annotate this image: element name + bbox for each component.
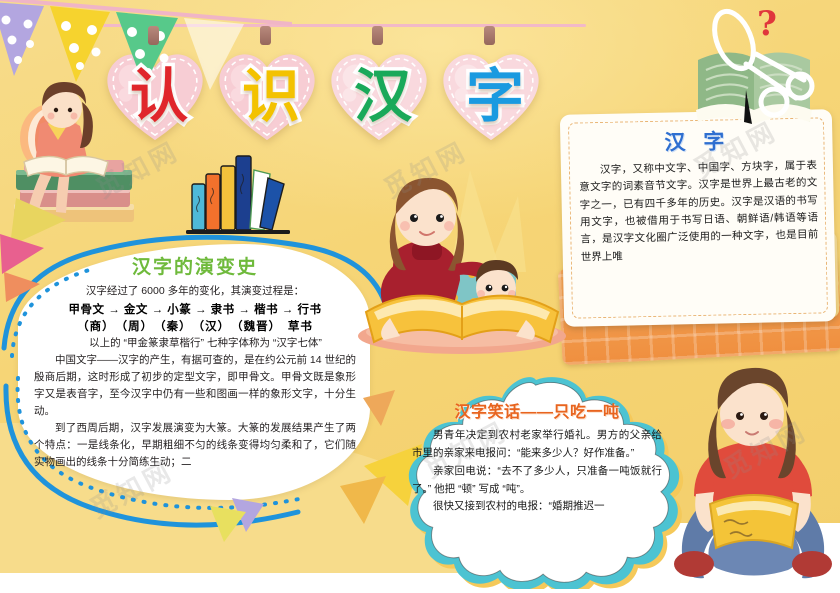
hanzi-note-heading: 汉 字 <box>578 124 817 159</box>
evolution-paragraph-2: 到了西周后期，汉字发展演变为大篆。大篆的发展结果产生了两个特点：一是线条化，早期… <box>34 420 356 471</box>
triangle-decor-bottom-left <box>198 498 288 568</box>
girl-reading-icon <box>662 358 840 593</box>
clothespin-icon <box>260 26 271 45</box>
title-char-1: 识 <box>242 67 300 125</box>
poster-canvas: 认 识 汉 <box>0 0 840 593</box>
triangle-decor-mid <box>355 386 425 456</box>
title-heart-4: 字 <box>432 38 558 156</box>
clothespin-icon <box>148 26 159 45</box>
title-char-0: 认 <box>130 67 188 125</box>
triangle-decor-left <box>0 190 120 360</box>
joke-heading: 汉字笑话——只吃一吨 <box>412 398 662 422</box>
mother-child-reading-icon <box>350 160 590 360</box>
clothespin-icon <box>372 26 383 45</box>
bookshelf-icon <box>180 148 310 243</box>
title-char-2: 汉 <box>354 67 412 125</box>
title-char-3: 字 <box>466 67 524 125</box>
clothespin-icon <box>484 26 495 45</box>
joke-paragraph-2: 很快又接到农村的电报：“婚期推迟一 <box>412 498 662 516</box>
hanzi-note-body: 汉字，又称中文字、中国字、方块字，属于表意文字的词素音节文字。汉字是世界上最古老… <box>579 157 819 266</box>
joke-panel-content: 汉字笑话——只吃一吨 男青年决定到农村老家举行婚礼。男方的父亲给市里的亲家来电报… <box>412 398 662 568</box>
joke-paragraph-1: 亲家回电说：“去不了多少人，只准备一吨饭就行了。” 他把 “顿” 写成 “吨”。 <box>412 463 662 499</box>
joke-panel: 汉字笑话——只吃一吨 男青年决定到农村老家举行婚礼。男方的父亲给市里的亲家来电报… <box>386 374 686 589</box>
title-heart-3: 汉 <box>320 38 446 156</box>
evolution-paragraph-1: 中国文字——汉字的产生，有据可查的，是在约公元前 14 世纪的殷商后期，这时形成… <box>34 352 356 420</box>
hanzi-note-card: 汉 字 汉字，又称中文字、中国字、方块字，属于表意文字的词素音节文字。汉字是世界… <box>560 109 836 327</box>
joke-paragraph-0: 男青年决定到农村老家举行婚礼。男方的父亲给市里的亲家来电报问：“能来多少人？好作… <box>412 427 662 463</box>
scissors-icon <box>700 6 820 126</box>
